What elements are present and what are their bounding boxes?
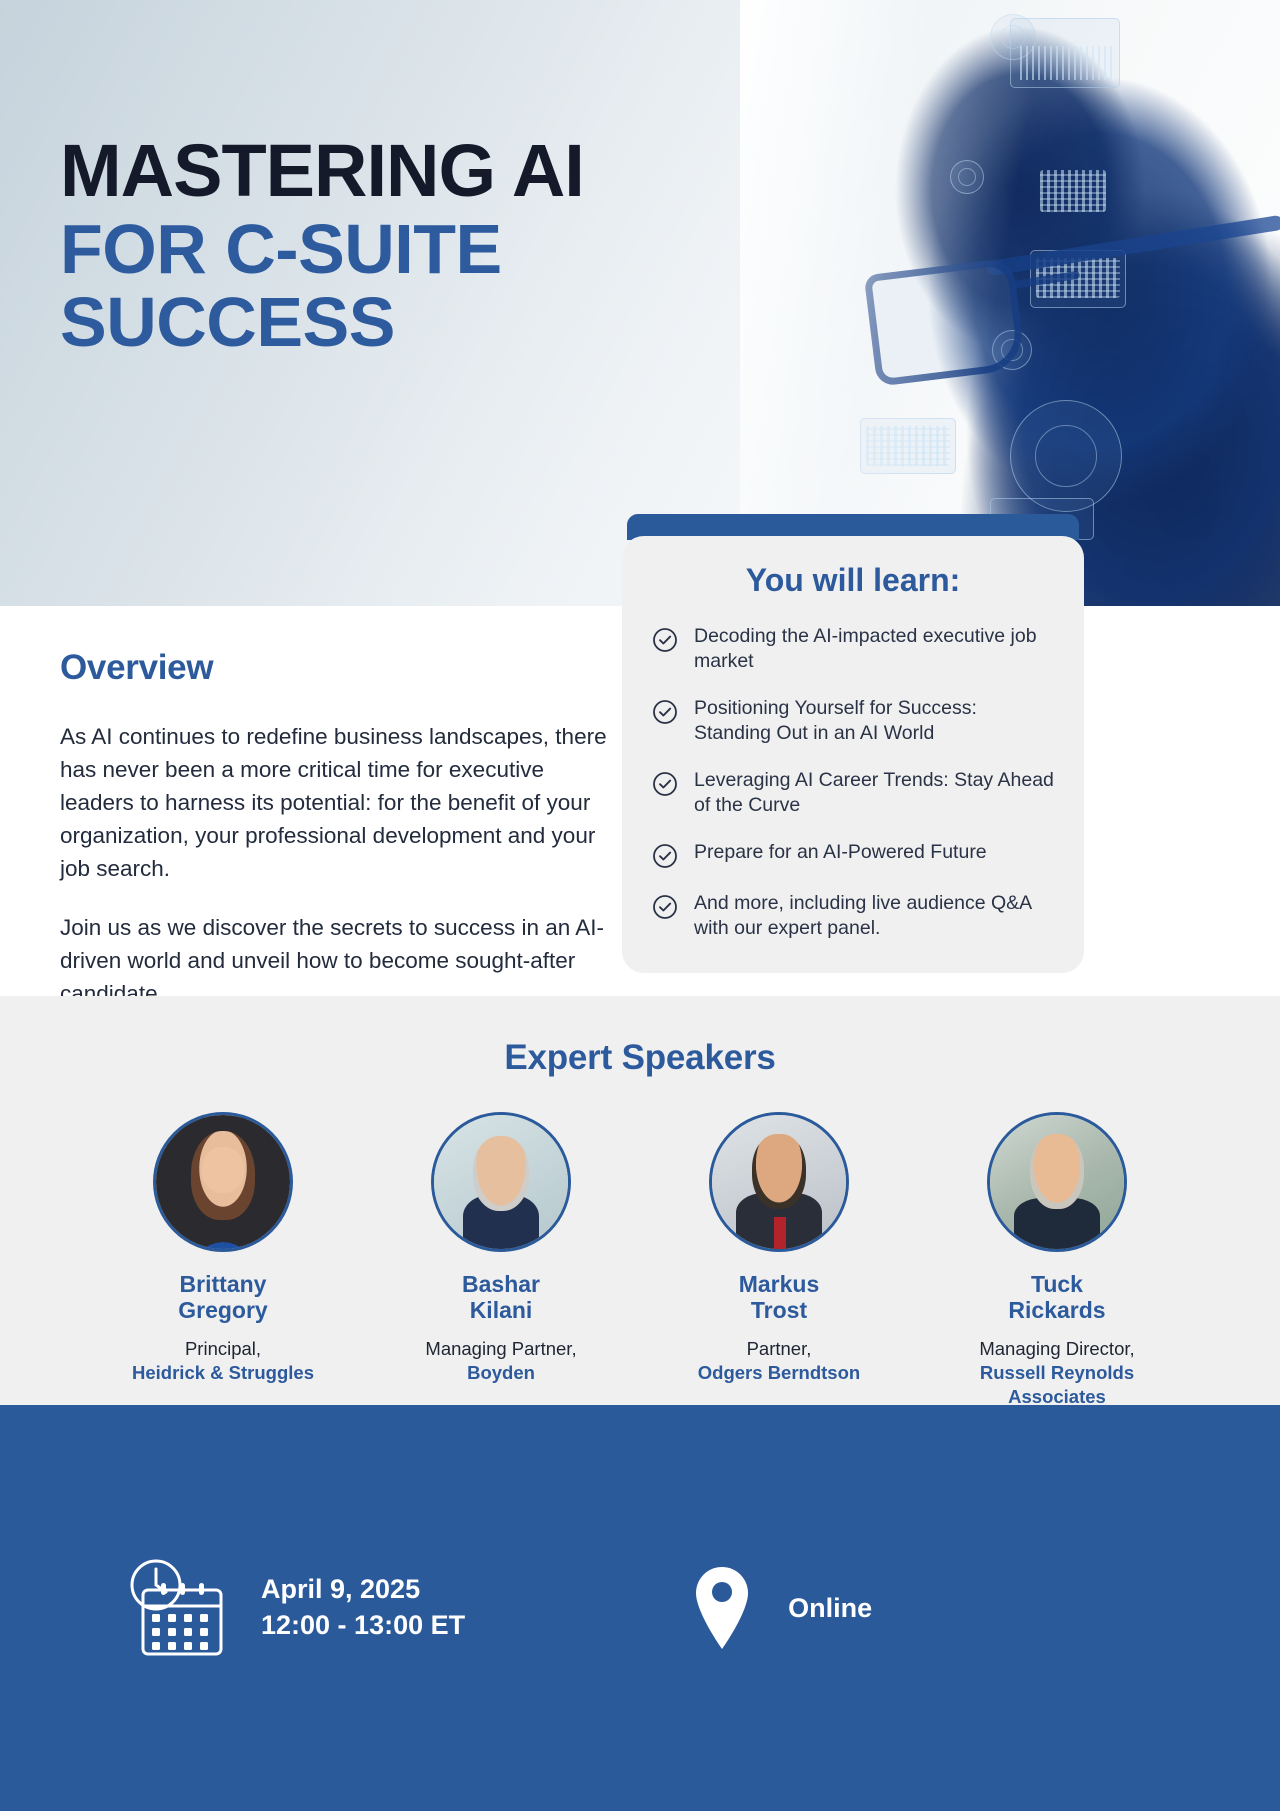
- speaker-photo: [434, 1115, 568, 1249]
- date-time-text: April 9, 2025 12:00 - 13:00 ET: [261, 1572, 465, 1643]
- learn-item-label: Decoding the AI-impacted executive job m…: [694, 624, 1054, 674]
- location-block: Online: [690, 1564, 872, 1652]
- speaker-role: Principal,: [108, 1337, 338, 1361]
- learn-item: And more, including live audience Q&A wi…: [652, 891, 1054, 941]
- learn-item-label: And more, including live audience Q&A wi…: [694, 891, 1054, 941]
- speaker-org: Russell Reynolds Associates: [942, 1361, 1172, 1409]
- learn-list: Decoding the AI-impacted executive job m…: [652, 624, 1054, 941]
- speaker-org: Odgers Berndtson: [664, 1361, 894, 1385]
- learn-item: Leveraging AI Career Trends: Stay Ahead …: [652, 768, 1054, 818]
- speaker-name: BasharKilani: [386, 1272, 616, 1324]
- speakers-heading: Expert Speakers: [0, 996, 1280, 1078]
- avatar: [431, 1112, 571, 1252]
- learn-item: Positioning Yourself for Success: Standi…: [652, 696, 1054, 746]
- learn-item-label: Prepare for an AI-Powered Future: [694, 840, 987, 865]
- check-circle-icon: [652, 771, 678, 797]
- overview-heading: Overview: [60, 648, 620, 688]
- speaker-card: TuckRickardsManaging Director,Russell Re…: [942, 1112, 1172, 1409]
- learn-panel: You will learn: Decoding the AI-impacted…: [622, 514, 1084, 973]
- event-time: 12:00 - 13:00 ET: [261, 1608, 465, 1644]
- speakers-section: Expert Speakers BrittanyGregoryPrincipal…: [0, 996, 1280, 1405]
- event-location: Online: [788, 1593, 872, 1624]
- avatar: [709, 1112, 849, 1252]
- avatar: [153, 1112, 293, 1252]
- speaker-card: MarkusTrostPartner,Odgers Berndtson: [664, 1112, 894, 1409]
- speaker-card: BrittanyGregoryPrincipal,Heidrick & Stru…: [108, 1112, 338, 1409]
- learn-item-label: Leveraging AI Career Trends: Stay Ahead …: [694, 768, 1054, 818]
- map-pin-icon: [690, 1564, 754, 1652]
- learn-heading: You will learn:: [652, 562, 1054, 599]
- overview-block: Overview As AI continues to redefine bus…: [60, 648, 620, 1011]
- title-line-3: SUCCESS: [60, 286, 584, 360]
- title-line-1: MASTERING AI: [60, 135, 584, 207]
- footer-bar: April 9, 2025 12:00 - 13:00 ET Online: [0, 1405, 1280, 1811]
- check-circle-icon: [652, 699, 678, 725]
- speaker-photo: [156, 1115, 290, 1249]
- overview-paragraph-1: As AI continues to redefine business lan…: [60, 720, 620, 885]
- event-date: April 9, 2025: [261, 1572, 465, 1608]
- speaker-org: Heidrick & Struggles: [108, 1361, 338, 1385]
- speaker-role: Managing Director,: [942, 1337, 1172, 1361]
- title-line-2: FOR C-SUITE: [60, 213, 584, 287]
- speaker-card: BasharKilaniManaging Partner,Boyden: [386, 1112, 616, 1409]
- speaker-org: Boyden: [386, 1361, 616, 1385]
- middle-section: Overview As AI continues to redefine bus…: [0, 606, 1280, 996]
- speaker-name: TuckRickards: [942, 1272, 1172, 1324]
- check-circle-icon: [652, 627, 678, 653]
- learn-item: Prepare for an AI-Powered Future: [652, 840, 1054, 869]
- speaker-role: Partner,: [664, 1337, 894, 1361]
- speaker-role: Managing Partner,: [386, 1337, 616, 1361]
- speaker-name: BrittanyGregory: [108, 1272, 338, 1324]
- learn-item-label: Positioning Yourself for Success: Standi…: [694, 696, 1054, 746]
- speaker-name: MarkusTrost: [664, 1272, 894, 1324]
- calendar-clock-icon: [125, 1556, 233, 1660]
- avatar: [987, 1112, 1127, 1252]
- date-time-block: April 9, 2025 12:00 - 13:00 ET: [125, 1556, 465, 1660]
- learn-panel-card: You will learn: Decoding the AI-impacted…: [622, 536, 1084, 973]
- check-circle-icon: [652, 894, 678, 920]
- check-circle-icon: [652, 843, 678, 869]
- tie-shape: [774, 1217, 786, 1249]
- speakers-row: BrittanyGregoryPrincipal,Heidrick & Stru…: [0, 1112, 1280, 1409]
- webinar-poster: MASTERING AI FOR C-SUITE SUCCESS Overvie…: [0, 0, 1280, 1811]
- learn-item: Decoding the AI-impacted executive job m…: [652, 624, 1054, 674]
- speaker-photo: [990, 1115, 1124, 1249]
- hero-title-block: MASTERING AI FOR C-SUITE SUCCESS: [60, 135, 584, 360]
